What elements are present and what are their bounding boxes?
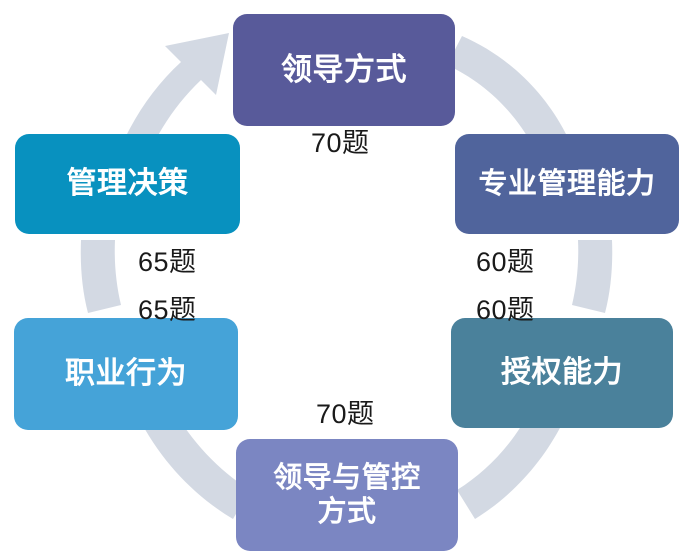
node-professional-behavior-label: 职业行为 [65,356,187,391]
node-management-decision[interactable]: 管理决策 [15,134,240,234]
node-management-decision-label: 管理决策 [67,166,189,201]
count-label-right-lower: 60题 [476,288,535,327]
count-label-top: 70题 [311,121,370,160]
node-professional-management-label: 专业管理能力 [478,167,655,201]
count-label-left-upper: 65题 [138,240,197,279]
count-label-right-upper: 60题 [476,240,535,279]
count-label-left-lower: 65题 [138,288,197,327]
node-delegation-label: 授权能力 [501,355,623,390]
count-label-bottom: 70题 [316,392,375,431]
node-delegation[interactable]: 授权能力 [451,318,673,428]
node-leadership-control-label: 领导与管控 方式 [273,461,421,529]
node-leadership-style-label: 领导方式 [281,52,407,89]
node-leadership-control[interactable]: 领导与管控 方式 [236,439,458,551]
arc-top-left-arrow-icon [126,33,229,139]
node-leadership-style[interactable]: 领导方式 [233,14,455,126]
node-professional-management[interactable]: 专业管理能力 [455,134,679,234]
cycle-diagram-canvas: 领导方式 专业管理能力 授权能力 领导与管控 方式 职业行为 管理决策 70题 … [0,0,693,551]
arc-left-icon [81,240,121,313]
node-professional-behavior[interactable]: 职业行为 [14,318,238,430]
arc-right-icon [572,240,612,313]
